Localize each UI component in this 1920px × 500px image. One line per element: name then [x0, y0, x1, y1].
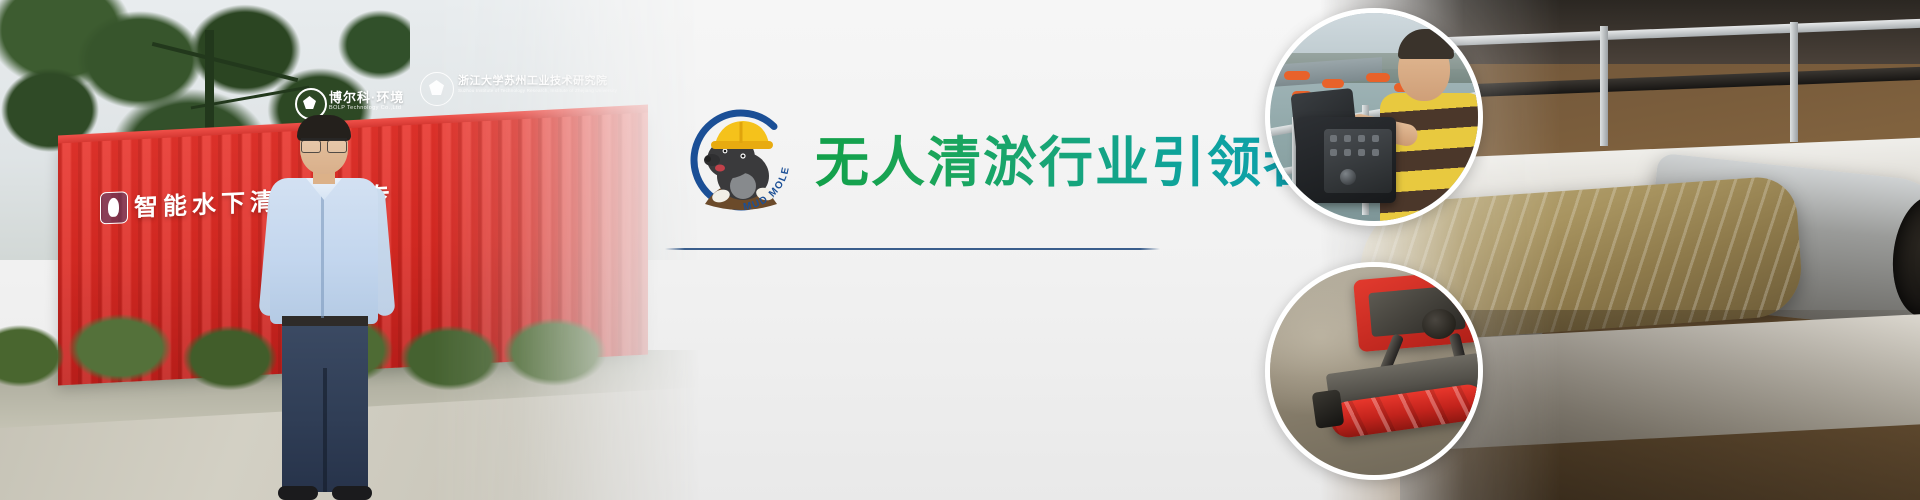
robot-chassis — [1353, 270, 1481, 352]
logo-mole-nose — [705, 156, 711, 162]
circle-photo-operator — [1265, 8, 1483, 226]
eyeglasses-icon — [301, 138, 347, 151]
controller-button[interactable] — [1330, 149, 1337, 156]
circle-photo-dredging-robot — [1265, 262, 1483, 480]
divider-line — [665, 248, 1160, 250]
partner-name-cn: 浙江大学苏州工业技术研究院 — [458, 72, 608, 88]
logo-mole-mouth — [715, 165, 725, 172]
pond-float — [1322, 79, 1344, 88]
center-content: MUD MOLE 无人清淤行业引领者 — [640, 0, 1240, 500]
auger-end-cap — [1312, 389, 1345, 429]
left-site-photo: 博尔科·环境 BOLP Technology Co.,Ltd 浙江大学苏州工业技… — [0, 0, 700, 500]
person-shoe-right — [332, 486, 372, 500]
controller-button[interactable] — [1330, 135, 1337, 142]
controller-button[interactable] — [1344, 149, 1351, 156]
person-shoe-left — [278, 486, 318, 500]
mud-mole-logo-svg: MUD MOLE — [685, 104, 797, 216]
shirt-placket — [321, 190, 324, 318]
controller-joystick[interactable] — [1340, 169, 1356, 185]
hero-banner: 博尔科·环境 BOLP Technology Co.,Ltd 浙江大学苏州工业技… — [0, 0, 1920, 500]
trouser-seam — [323, 368, 327, 492]
railing-post — [1790, 22, 1798, 142]
slogan-badge-icon — [100, 191, 128, 224]
partner-name-en: Suzhou Institute of Technology Research,… — [458, 88, 617, 93]
controller-button[interactable] — [1372, 135, 1379, 142]
brand-name-cn: 博尔科·环境 — [329, 87, 404, 106]
controller-button[interactable] — [1372, 149, 1379, 156]
logo-mole-pupil — [724, 150, 727, 153]
headline-text: 无人清淤行业引领者 — [815, 118, 1319, 197]
person-belt — [282, 316, 368, 326]
railing-post — [1600, 26, 1608, 146]
pipe-mouth — [1887, 192, 1920, 321]
pond-float — [1284, 71, 1310, 80]
controller-button[interactable] — [1358, 149, 1365, 156]
container-partner-logo: 浙江大学苏州工业技术研究院 Suzhou Institute of Techno… — [420, 70, 610, 110]
logo-mole-pupil — [742, 155, 745, 158]
mud-mole-logo: MUD MOLE — [685, 104, 797, 216]
headline: 无人清淤行业引领者 — [815, 124, 1319, 190]
person-photo — [262, 118, 392, 500]
controller-button[interactable] — [1344, 135, 1351, 142]
brand-name-en: BOLP Technology Co.,Ltd — [329, 105, 401, 111]
controller-button[interactable] — [1358, 135, 1365, 142]
operator-hair — [1398, 29, 1454, 59]
partner-mark-icon — [420, 72, 454, 106]
